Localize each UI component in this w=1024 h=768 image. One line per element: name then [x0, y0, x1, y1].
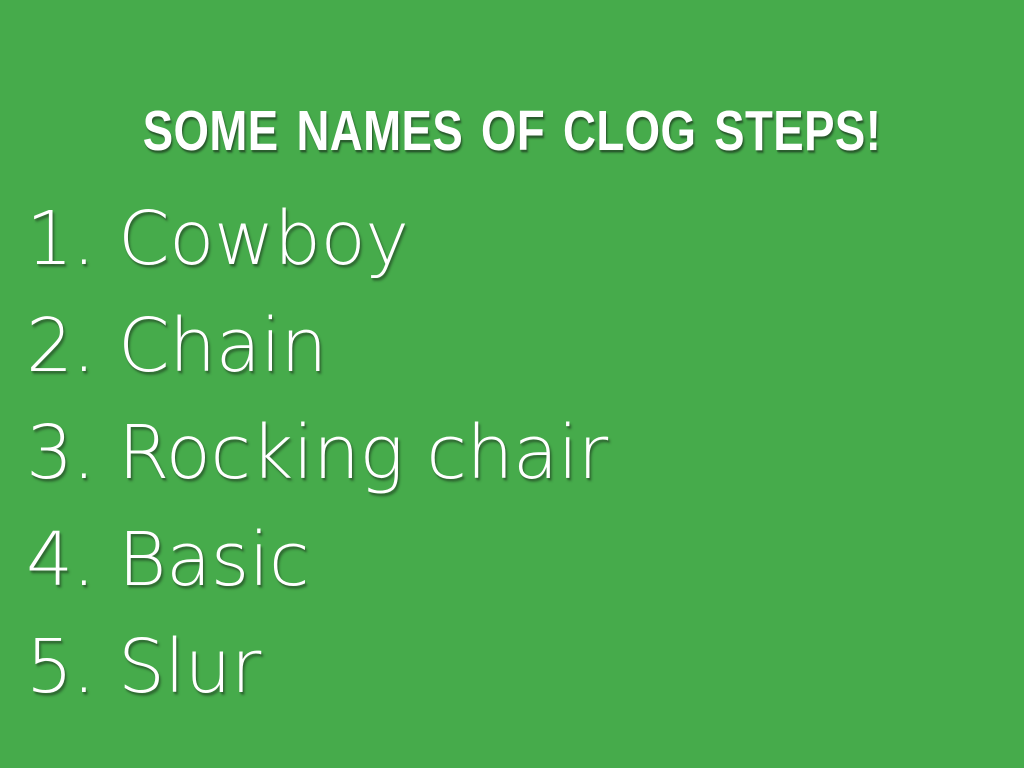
- list-item-label: Rocking chair: [118, 400, 608, 507]
- list-item-label: Cowboy: [118, 186, 409, 293]
- list-item-number: 3.: [26, 400, 118, 507]
- list-item-label: Chain: [118, 293, 327, 400]
- list-item-number: 2.: [26, 293, 118, 400]
- page-title: Some names of clog steps!: [102, 100, 921, 162]
- clog-steps-list: 1. Cowboy 2. Chain 3. Rocking chair 4. B…: [26, 186, 986, 721]
- slide-canvas: Some names of clog steps! 1. Cowboy 2. C…: [0, 0, 1024, 768]
- list-item-label: Basic: [118, 507, 309, 614]
- list-item-number: 4.: [26, 507, 118, 614]
- list-item: 3. Rocking chair: [26, 400, 986, 507]
- list-item: 2. Chain: [26, 293, 986, 400]
- list-item: 1. Cowboy: [26, 186, 986, 293]
- list-item-number: 1.: [26, 186, 118, 293]
- list-item: 4. Basic: [26, 507, 986, 614]
- list-item-label: Slur: [118, 614, 261, 721]
- list-item-number: 5.: [26, 614, 118, 721]
- list-item: 5. Slur: [26, 614, 986, 721]
